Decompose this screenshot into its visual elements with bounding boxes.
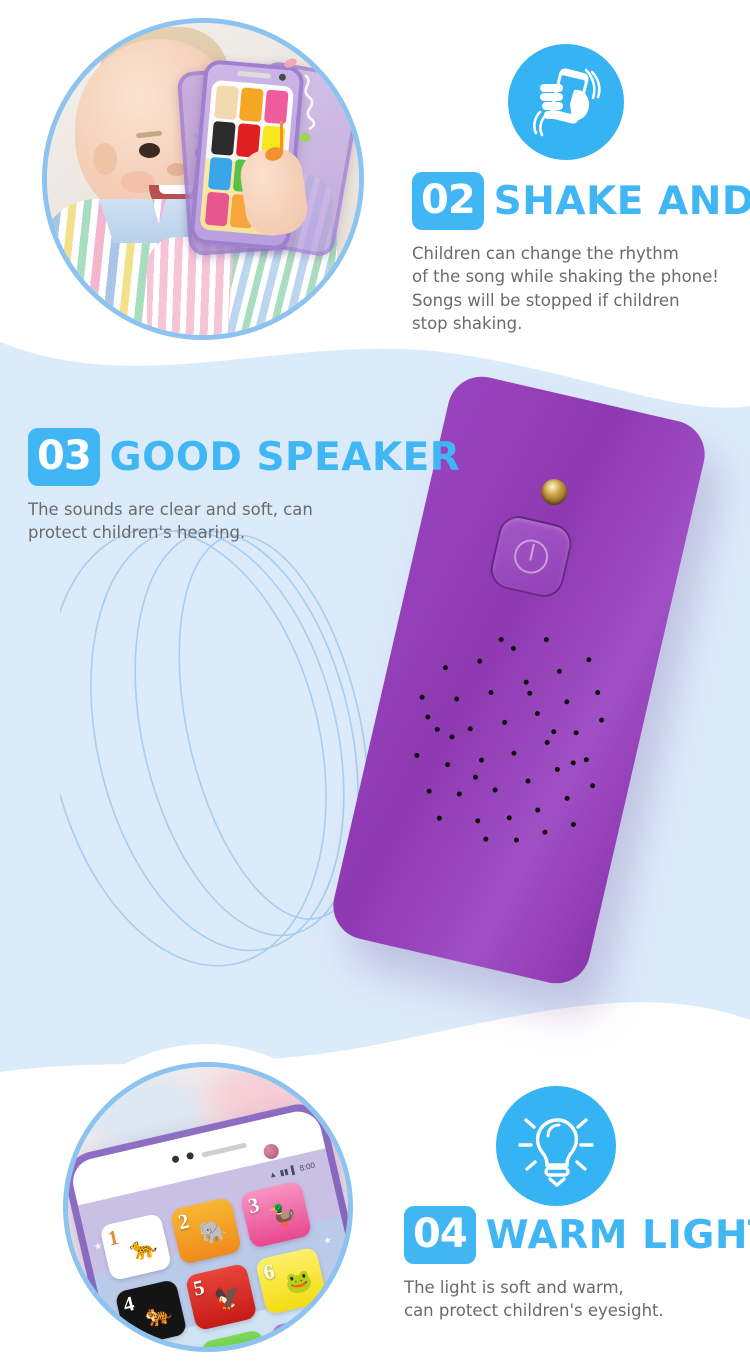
app-tile-number: 2 <box>176 1209 192 1236</box>
green-dot <box>299 133 311 142</box>
toy-phone-speaker-slot <box>237 71 271 79</box>
white-squiggle-icon <box>297 73 323 131</box>
infographic-page: 02 SHAKE AND SING Children can change th… <box>0 0 750 1362</box>
app-tile-number: 5 <box>191 1275 207 1302</box>
feature-02-body: Children can change the rhythm of the so… <box>412 242 750 336</box>
music-note-decoration-icon: ♫ <box>336 1278 346 1290</box>
feature-04: 04 WARM LIGHT The light is soft and warm… <box>404 1206 750 1323</box>
camera-lens-icon <box>539 477 570 508</box>
toy-phone-camera <box>279 73 287 81</box>
app-tile-number: 9 <box>276 1325 292 1352</box>
app-tile-animal: 🐘 <box>197 1216 230 1247</box>
feature-03-body: The sounds are clear and soft, can prote… <box>28 498 460 545</box>
lightbulb-icon <box>496 1086 616 1206</box>
speaker-dot-grid <box>383 603 630 872</box>
earpiece-speaker <box>201 1142 247 1157</box>
app-tile-number: 8 <box>206 1341 222 1352</box>
app-tile-number: 1 <box>106 1225 122 1252</box>
feature-02-title: SHAKE AND SING <box>494 179 750 224</box>
app-tile-animal: 🦅 <box>212 1283 245 1314</box>
orange-music-note-icon <box>263 119 293 165</box>
app-tile-animal: 🐅 <box>142 1299 175 1330</box>
feature-03-title: GOOD SPEAKER <box>110 435 461 480</box>
baby-brow-left <box>136 131 162 139</box>
status-time: 8:00 <box>299 1161 316 1173</box>
signal-icon: ▮▮ <box>279 1167 290 1178</box>
feature-03-number-badge: 03 <box>28 428 100 486</box>
app-tile[interactable]: 1 🐆 <box>99 1213 172 1282</box>
app-tile-grid: 1 🐆 2 🐘 3 🦆 4 🐅 <box>99 1183 333 1352</box>
hand-shaking-phone-icon <box>508 44 624 160</box>
baby-eye-left <box>139 143 160 158</box>
app-tile-number: 6 <box>261 1259 277 1286</box>
feature-02: 02 SHAKE AND SING Children can change th… <box>412 172 750 336</box>
feature-03-heading: 03 GOOD SPEAKER <box>28 428 460 486</box>
app-tile[interactable]: 6 🐸 <box>255 1247 328 1316</box>
feature-04-number-badge: 04 <box>404 1206 476 1264</box>
app-tile[interactable]: 4 🐅 <box>115 1279 188 1348</box>
feature-02-heading: 02 SHAKE AND SING <box>412 172 750 230</box>
star-decoration-icon: ★ <box>322 1235 333 1248</box>
front-camera-icon <box>262 1143 280 1161</box>
power-symbol-icon <box>511 536 552 577</box>
app-tile[interactable]: 5 🦅 <box>185 1263 258 1332</box>
wifi-icon: ▲ <box>268 1169 278 1180</box>
app-tile-animal: 🐆 <box>127 1233 160 1264</box>
app-tile-animal: 🐸 <box>283 1266 316 1297</box>
power-button[interactable] <box>487 512 576 601</box>
feature-03: 03 GOOD SPEAKER The sounds are clear and… <box>28 428 460 545</box>
app-tile-number: 4 <box>121 1291 137 1318</box>
app-tile[interactable]: 2 🐘 <box>169 1196 242 1265</box>
app-tile-animal: 🦆 <box>267 1200 300 1231</box>
feature-04-title: WARM LIGHT <box>486 1213 750 1258</box>
baby-ear <box>93 143 117 175</box>
app-tile-animal: 🐱 <box>298 1333 331 1352</box>
toy-phone-screen-photo: ▲ ▮▮ ▌ 8:00 1 🐆 2 🐘 <box>63 1062 353 1352</box>
feature-04-heading: 04 WARM LIGHT <box>404 1206 750 1264</box>
app-tile[interactable]: 9 🐱 <box>270 1313 343 1352</box>
feature-02-number-badge: 02 <box>412 172 484 230</box>
app-tile-number: 3 <box>246 1192 262 1219</box>
feature-04-body: The light is soft and warm, can protect … <box>404 1276 750 1323</box>
status-bar: ▲ ▮▮ ▌ 8:00 <box>268 1161 316 1180</box>
battery-icon: ▌ <box>290 1165 298 1175</box>
app-tile[interactable]: 3 🦆 <box>240 1180 313 1249</box>
baby-photo <box>42 18 364 340</box>
